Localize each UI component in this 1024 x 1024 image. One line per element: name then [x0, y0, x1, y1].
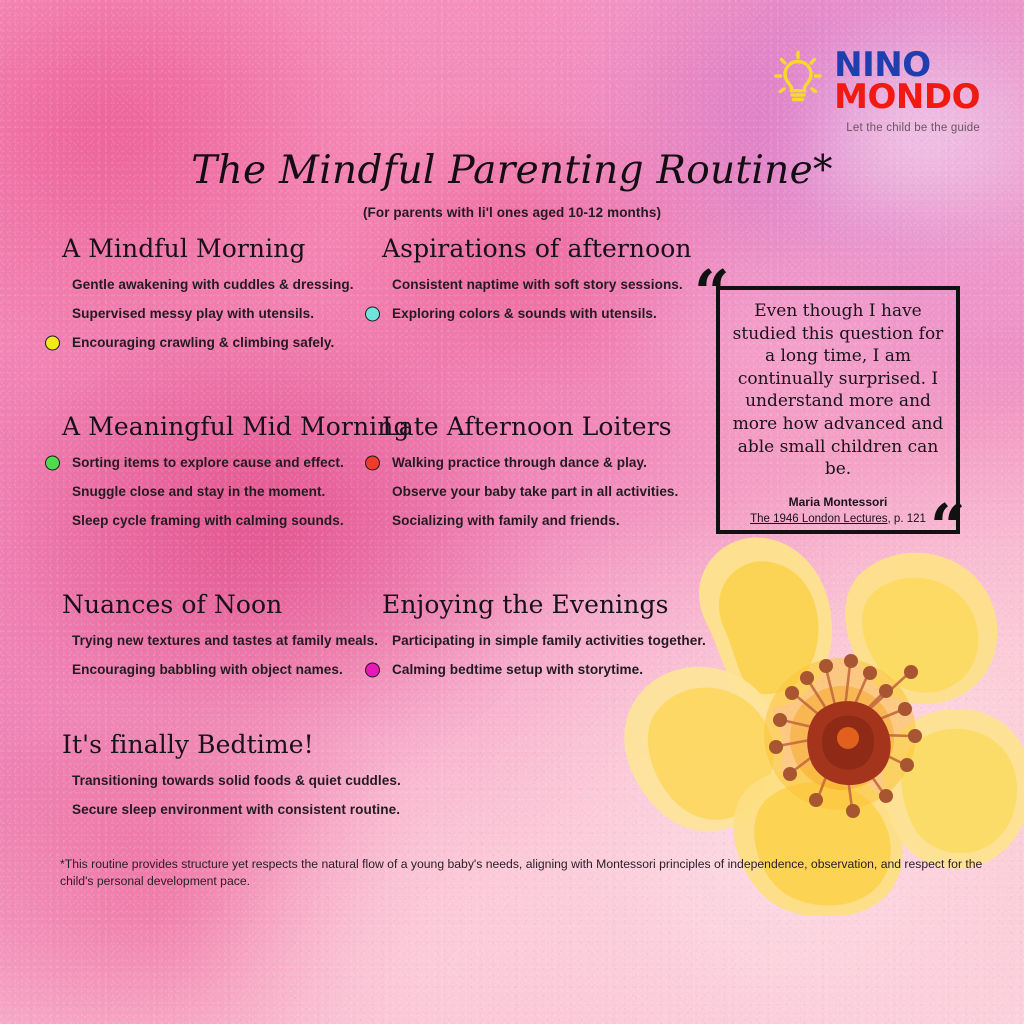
routine-item: Observe your baby take part in all activ…	[382, 484, 678, 499]
routine-item: Transitioning towards solid foods & quie…	[62, 773, 401, 788]
quote-open-mark: “	[694, 262, 728, 324]
routine-item: Sorting items to explore cause and effec…	[62, 455, 410, 470]
quote-close-mark: “	[930, 496, 964, 558]
logo-tagline: Let the child be the guide	[846, 122, 980, 134]
quote-author: Maria Montessori	[726, 495, 950, 509]
quote-source-title: The 1946 London Lectures	[750, 513, 887, 525]
section-afternoon: Aspirations of afternoonConsistent napti…	[382, 234, 692, 335]
routine-item-label: Encouraging babbling with object names.	[72, 662, 343, 677]
routine-item-label: Observe your baby take part in all activ…	[392, 484, 678, 499]
brand-logo: NINO MONDO Let the child be the guide	[770, 48, 980, 134]
routine-item-label: Sleep cycle framing with calming sounds.	[72, 513, 344, 528]
routine-item-label: Trying new textures and tastes at family…	[72, 633, 378, 648]
logo-wordmark: NINO MONDO	[834, 50, 980, 114]
bullet-dot-icon	[45, 335, 60, 350]
routine-item: Calming bedtime setup with storytime.	[382, 662, 706, 677]
routine-item-label: Socializing with family and friends.	[392, 513, 620, 528]
section-heading-midmorning: A Meaningful Mid Morning	[62, 412, 410, 441]
routine-item: Encouraging crawling & climbing safely.	[62, 335, 354, 350]
routine-item: Supervised messy play with utensils.	[62, 306, 354, 321]
section-heading-noon: Nuances of Noon	[62, 590, 378, 619]
routine-item-label: Encouraging crawling & climbing safely.	[72, 335, 334, 350]
section-morning: A Mindful MorningGentle awakening with c…	[62, 234, 354, 364]
routine-item: Gentle awakening with cuddles & dressing…	[62, 277, 354, 292]
bullet-dot-icon	[365, 662, 380, 677]
routine-item: Participating in simple family activitie…	[382, 633, 706, 648]
quote-source: The 1946 London Lectures, p. 121	[726, 513, 950, 525]
routine-item-label: Calming bedtime setup with storytime.	[392, 662, 643, 677]
routine-item-label: Snuggle close and stay in the moment.	[72, 484, 325, 499]
bullet-dot-icon	[365, 306, 380, 321]
routine-item: Snuggle close and stay in the moment.	[62, 484, 410, 499]
routine-item-label: Transitioning towards solid foods & quie…	[72, 773, 401, 788]
lightbulb-icon	[770, 48, 826, 115]
section-heading-bedtime: It's finally Bedtime!	[62, 730, 401, 759]
section-heading-evening: Enjoying the Evenings	[382, 590, 706, 619]
routine-item: Walking practice through dance & play.	[382, 455, 678, 470]
routine-item: Exploring colors & sounds with utensils.	[382, 306, 692, 321]
quote-source-page: , p. 121	[888, 513, 926, 525]
routine-item: Sleep cycle framing with calming sounds.	[62, 513, 410, 528]
section-heading-afternoon: Aspirations of afternoon	[382, 234, 692, 263]
footnote-text: *This routine provides structure yet res…	[60, 856, 1005, 890]
section-heading-late-afternoon: Late Afternoon Loiters	[382, 412, 678, 441]
routine-item-label: Walking practice through dance & play.	[392, 455, 647, 470]
bullet-dot-icon	[365, 455, 380, 470]
logo-row: NINO MONDO	[770, 48, 980, 115]
routine-item-label: Sorting items to explore cause and effec…	[72, 455, 344, 470]
quote-content: Even though I have studied this question…	[716, 300, 960, 525]
routine-item-label: Participating in simple family activitie…	[392, 633, 706, 648]
section-bedtime: It's finally Bedtime!Transitioning towar…	[62, 730, 401, 831]
quote-text: Even though I have studied this question…	[726, 300, 950, 481]
section-noon: Nuances of NoonTrying new textures and t…	[62, 590, 378, 691]
routine-item: Socializing with family and friends.	[382, 513, 678, 528]
routine-item-label: Secure sleep environment with consistent…	[72, 802, 400, 817]
routine-item-label: Exploring colors & sounds with utensils.	[392, 306, 657, 321]
section-late-afternoon: Late Afternoon LoitersWalking practice t…	[382, 412, 678, 542]
section-evening: Enjoying the EveningsParticipating in si…	[382, 590, 706, 691]
section-midmorning: A Meaningful Mid MorningSorting items to…	[62, 412, 410, 542]
bullet-dot-icon	[45, 455, 60, 470]
routine-item: Secure sleep environment with consistent…	[62, 802, 401, 817]
routine-item: Trying new textures and tastes at family…	[62, 633, 378, 648]
routine-item-label: Gentle awakening with cuddles & dressing…	[72, 277, 354, 292]
routine-item-label: Consistent naptime with soft story sessi…	[392, 277, 683, 292]
section-heading-morning: A Mindful Morning	[62, 234, 354, 263]
routine-item: Consistent naptime with soft story sessi…	[382, 277, 692, 292]
logo-mondo-text: MONDO	[834, 82, 980, 113]
routine-item: Encouraging babbling with object names.	[62, 662, 378, 677]
routine-item-label: Supervised messy play with utensils.	[72, 306, 314, 321]
